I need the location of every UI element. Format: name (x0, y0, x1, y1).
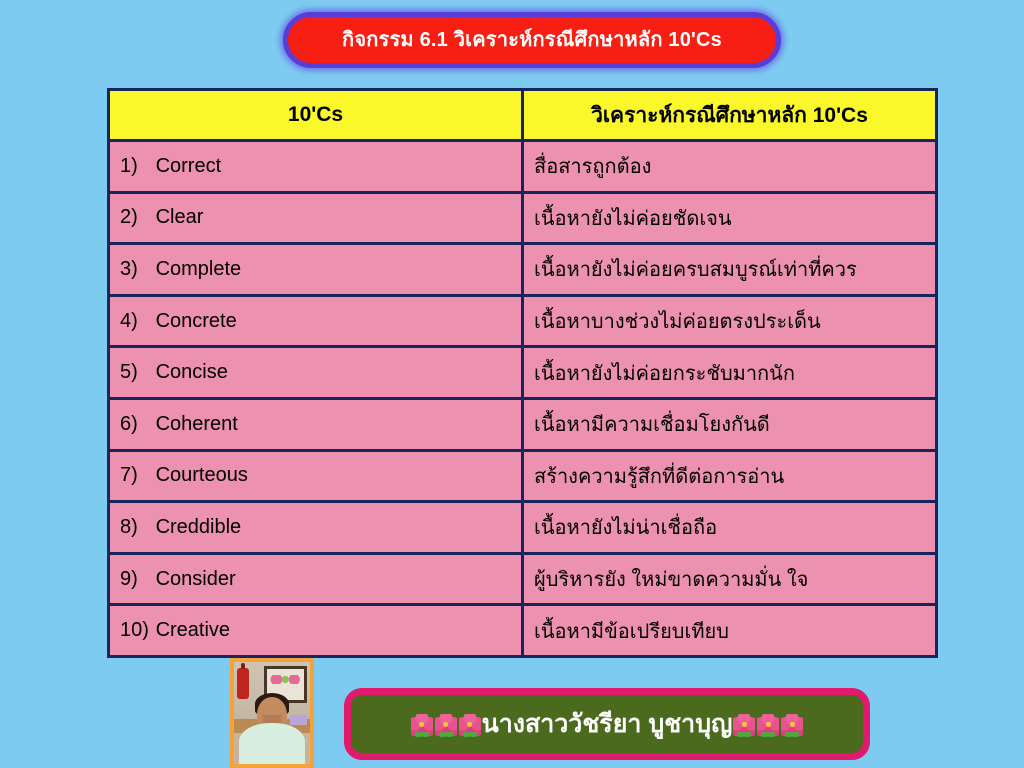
photo-papers (290, 715, 307, 725)
cell-cs-label: 3) Complete (109, 244, 523, 296)
cell-cs-name: Creative (156, 619, 230, 641)
cell-cs-label: 5) Concise (109, 347, 523, 399)
cell-analysis-text: เนื้อหายังไม่ค่อยครบสมบูรณ์เท่าที่ควร (523, 244, 937, 296)
cell-analysis-text: เนื้อหายังไม่ค่อยกระชับมากนัก (523, 347, 937, 399)
hibiscus-flower-icon (757, 714, 779, 736)
cell-cs-name: Clear (156, 206, 204, 228)
author-portrait-photo (230, 658, 314, 768)
cell-cs-name: Courteous (156, 464, 248, 486)
cell-analysis-text: เนื้อหาบางช่วงไม่ค่อยตรงประเด็น (523, 295, 937, 347)
cell-cs-name: Complete (156, 258, 242, 280)
column-header-analysis: วิเคราะห์กรณีศึกษาหลัก 10'Cs (523, 90, 937, 141)
cell-row-number: 8) (120, 516, 150, 539)
cell-row-number: 9) (120, 568, 150, 591)
cell-analysis-text: สร้างความรู้สึกที่ดีต่อการอ่าน (523, 450, 937, 502)
hibiscus-flower-icon (411, 714, 433, 736)
table-row: 3) Completeเนื้อหายังไม่ค่อยครบสมบูรณ์เท… (109, 244, 937, 296)
table-row: 10) Creativeเนื้อหามีข้อเปรียบเทียบ (109, 605, 937, 657)
cell-analysis-text: เนื้อหายังไม่ค่อยชัดเจน (523, 192, 937, 244)
cell-cs-label: 9) Consider (109, 553, 523, 605)
table-header-row: 10'Cs วิเคราะห์กรณีศึกษาหลัก 10'Cs (109, 90, 937, 141)
cell-row-number: 5) (120, 361, 150, 384)
hibiscus-flower-icon (733, 714, 755, 736)
cell-analysis-text: ผู้บริหารยัง ใหม่ขาดความมั่น ใจ (523, 553, 937, 605)
cell-cs-label: 2) Clear (109, 192, 523, 244)
column-header-tencs: 10'Cs (109, 90, 523, 141)
cell-cs-name: Coherent (156, 413, 238, 435)
cell-row-number: 6) (120, 413, 150, 436)
page-title: กิจกรรม 6.1 วิเคราะห์กรณีศึกษาหลัก 10'Cs (342, 30, 722, 50)
cell-row-number: 1) (120, 155, 150, 178)
cell-analysis-text: สื่อสารถูกต้อง (523, 141, 937, 193)
hibiscus-flower-icon (781, 714, 803, 736)
cell-cs-label: 8) Creddible (109, 502, 523, 554)
flower-group-right (732, 712, 804, 737)
slide-title-banner: กิจกรรม 6.1 วิเคราะห์กรณีศึกษาหลัก 10'Cs (283, 12, 781, 68)
cell-cs-label: 4) Concrete (109, 295, 523, 347)
hibiscus-flower-icon (459, 714, 481, 736)
author-name-banner: นางสาววัชรียา บูชาบุญ (344, 688, 870, 760)
photo-shirt (239, 723, 306, 764)
cell-row-number: 2) (120, 206, 150, 229)
table-row: 5) Conciseเนื้อหายังไม่ค่อยกระชับมากนัก (109, 347, 937, 399)
table-body: 1) Correctสื่อสารถูกต้อง2) Clearเนื้อหาย… (109, 141, 937, 657)
cell-cs-name: Concrete (156, 310, 237, 332)
table-row: 2) Clearเนื้อหายังไม่ค่อยชัดเจน (109, 192, 937, 244)
cell-row-number: 3) (120, 258, 150, 281)
cell-cs-label: 6) Coherent (109, 398, 523, 450)
cell-cs-name: Correct (156, 155, 222, 177)
hibiscus-flower-icon (435, 714, 457, 736)
table-row: 8) Creddibleเนื้อหายังไม่น่าเชื่อถือ (109, 502, 937, 554)
table-row: 6) Coherentเนื้อหามีความเชื่อมโยงกันดี (109, 398, 937, 450)
cell-cs-label: 10) Creative (109, 605, 523, 657)
cell-cs-name: Consider (156, 568, 236, 590)
cell-row-number: 4) (120, 310, 150, 333)
table-row: 1) Correctสื่อสารถูกต้อง (109, 141, 937, 193)
cell-cs-label: 1) Correct (109, 141, 523, 193)
table-row: 7) Courteousสร้างความรู้สึกที่ดีต่อการอ่… (109, 450, 937, 502)
table-row: 4) Concreteเนื้อหาบางช่วงไม่ค่อยตรงประเด… (109, 295, 937, 347)
cell-analysis-text: เนื้อหายังไม่น่าเชื่อถือ (523, 502, 937, 554)
cell-cs-name: Creddible (156, 516, 242, 538)
author-name-text: นางสาววัชรียา บูชาบุญ (410, 712, 805, 737)
flower-group-left (410, 712, 482, 737)
cell-row-number: 10) (120, 619, 150, 642)
cell-row-number: 7) (120, 464, 150, 487)
cell-analysis-text: เนื้อหามีความเชื่อมโยงกันดี (523, 398, 937, 450)
cell-cs-name: Concise (156, 361, 228, 383)
table-row: 9) Considerผู้บริหารยัง ใหม่ขาดความมั่น … (109, 553, 937, 605)
cell-cs-label: 7) Courteous (109, 450, 523, 502)
ten-cs-analysis-table: 10'Cs วิเคราะห์กรณีศึกษาหลัก 10'Cs 1) Co… (107, 88, 938, 658)
cell-analysis-text: เนื้อหามีข้อเปรียบเทียบ (523, 605, 937, 657)
photo-fire-extinguisher (237, 668, 249, 699)
author-name-label: นางสาววัชรียา บูชาบุญ (482, 712, 733, 737)
